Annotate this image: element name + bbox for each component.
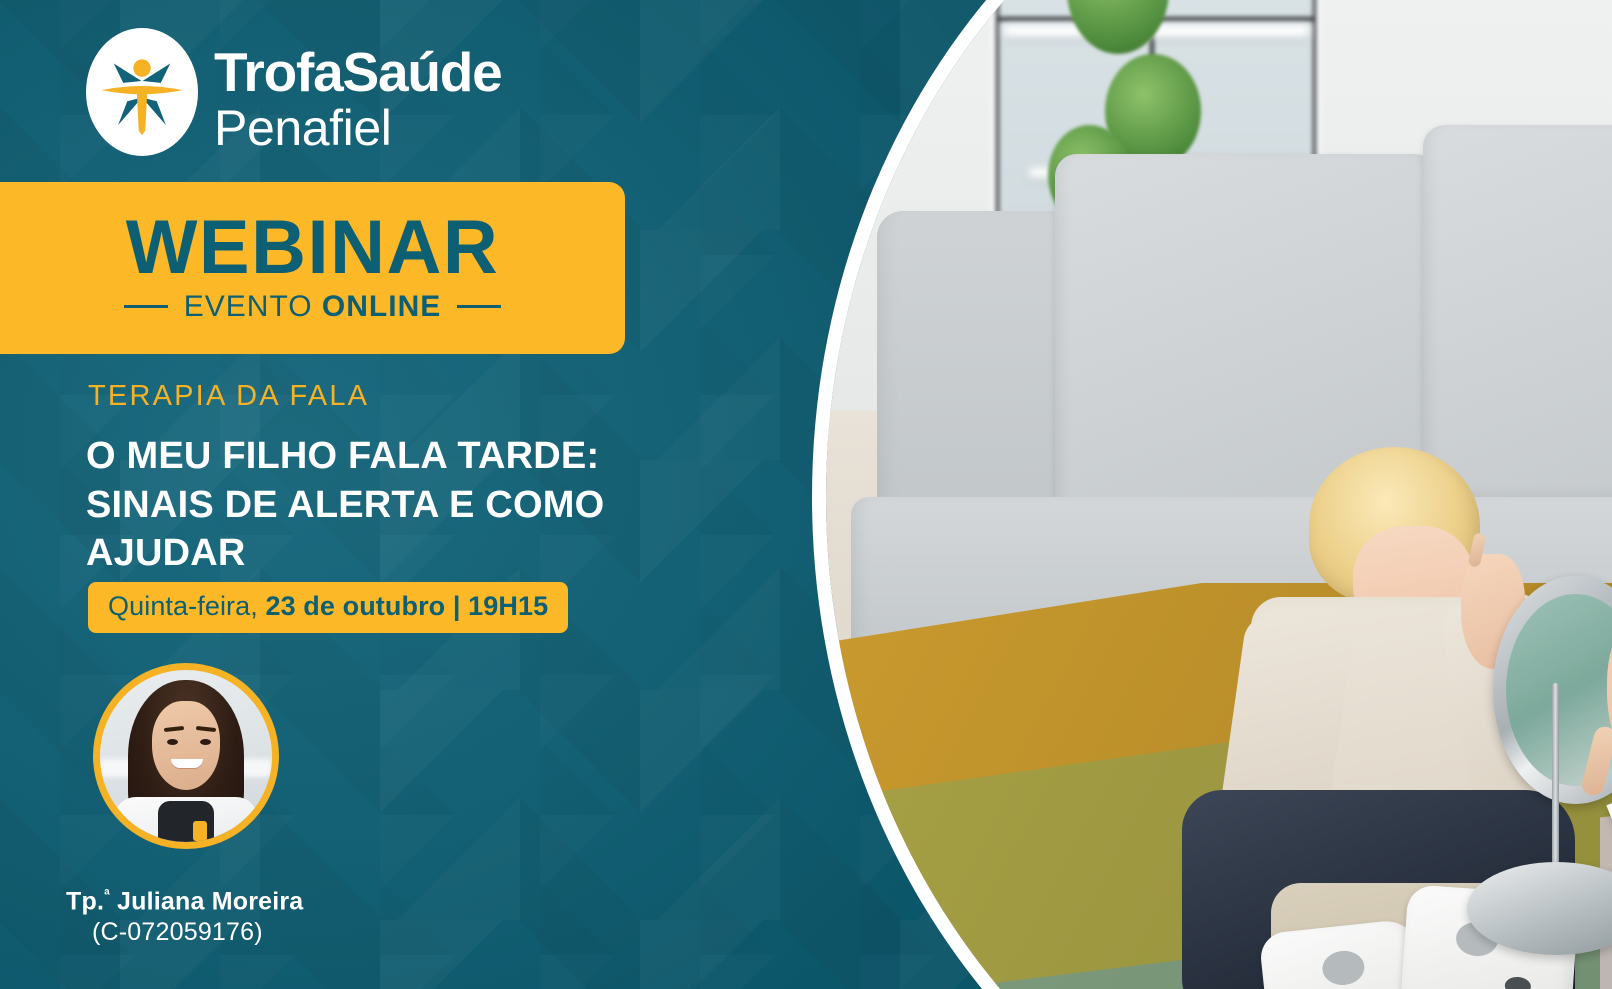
webinar-subtitle-row: EVENTO ONLINE: [124, 290, 502, 324]
couch-cushion: [1423, 125, 1612, 511]
speaker-registration: (C-072059176): [92, 918, 263, 947]
brand-location: Penafiel: [214, 102, 502, 155]
event-weekday: Quinta-feira,: [108, 591, 265, 621]
event-headline: O MEU FILHO FALA TARDE: SINAIS DE ALERTA…: [86, 432, 646, 578]
speaker-name: Tp.ª Juliana Moreira: [66, 887, 303, 916]
dash-left-icon: [124, 305, 168, 308]
webinar-poster: G C W T Nn C: [0, 0, 1612, 989]
speaker-title-superscript: ª: [104, 887, 110, 904]
speaker-title-prefix: Tp.: [66, 887, 104, 915]
webinar-subtitle: EVENTO ONLINE: [184, 290, 442, 324]
webinar-banner: WEBINAR EVENTO ONLINE: [0, 182, 625, 354]
dash-right-icon: [457, 305, 501, 308]
speaker-full-name: Juliana Moreira: [117, 887, 303, 915]
webinar-title: WEBINAR: [126, 212, 500, 283]
hero-photo: G C W T Nn C: [826, 0, 1612, 989]
webinar-subtitle-plain: EVENTO: [184, 290, 322, 323]
event-category: TERAPIA DA FALA: [88, 380, 369, 413]
speaker-avatar: [93, 663, 279, 849]
trofasaude-logo-icon: [86, 28, 198, 156]
brand-logo: TrofaSaúde Penafiel: [86, 28, 502, 156]
webinar-subtitle-bold: ONLINE: [322, 290, 441, 323]
brand-name: TrofaSaúde: [214, 44, 502, 100]
event-date-time: 23 de outubro | 19H15: [265, 591, 548, 621]
event-datetime-badge: Quinta-feira, 23 de outubro | 19H15: [88, 582, 568, 633]
